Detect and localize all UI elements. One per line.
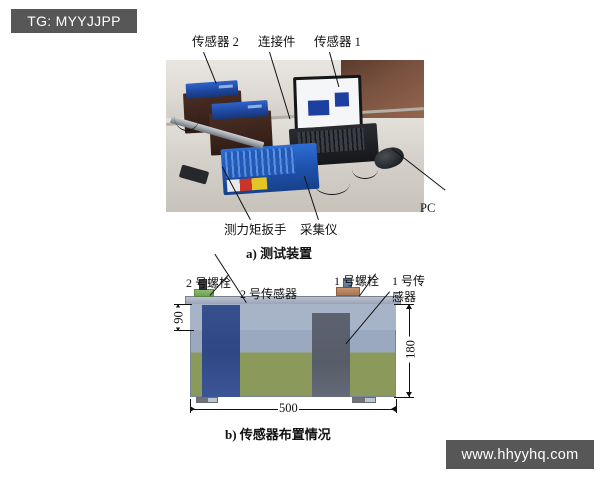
label-sensor-1: 传感器 1 [314,36,361,49]
figure-a-caption: a) 测试装置 [246,243,312,262]
photo-sensor-1-band [248,105,263,109]
label-diagram-sensor-2: 2 号传感器 [240,288,297,301]
label-sensor-2: 传感器 2 [192,36,239,49]
label-pc: PC [420,202,435,215]
dim-500-ext-left [190,399,191,413]
dim-90-ext-bottom [174,330,194,331]
photo-cable-2 [314,172,350,195]
dim-90-ext-top [174,304,192,305]
photo-daq-device [221,143,320,196]
diagram-sensor-2-block [202,305,240,397]
bottom-watermark-badge: www.hhyyhq.com [446,440,594,469]
label-connector: 连接件 [258,36,296,49]
photo-screen-chart-bar-b [335,93,349,107]
diagram-sensor-1-block [312,313,350,397]
diagram-support-foot-right [352,397,376,403]
test-apparatus-photo [166,60,424,212]
label-diagram-sensor-1-line1: 1 号传 [392,275,425,288]
dim-500-value: 500 [278,401,299,416]
photo-screen-chart-bar-a [308,100,330,115]
dim-500-ext-right [396,399,397,413]
dim-180-value: 180 [404,337,419,363]
label-daq: 采集仪 [300,224,338,237]
dim-180-ext-top [394,304,414,305]
figure-b-caption: b) 传感器布置情况 [225,424,331,443]
photo-laptop-screen [296,78,360,128]
diagram-support-foot-left [196,397,218,403]
photo-cable-3 [352,160,378,179]
photo-cable-1 [174,100,200,131]
label-diagram-sensor-1-line2: 感器 [392,291,416,304]
dim-180-ext-bottom [394,397,414,398]
photo-sensor-2-band [219,84,233,88]
top-watermark-badge: TG: MYYJJPP [11,9,137,33]
label-torque-wrench: 测力矩扳手 [224,224,287,237]
photo-daq-heatsink-fins [225,147,296,178]
dim-90-value: 90 [172,308,187,328]
diagram-bolt-1-base [336,287,360,296]
